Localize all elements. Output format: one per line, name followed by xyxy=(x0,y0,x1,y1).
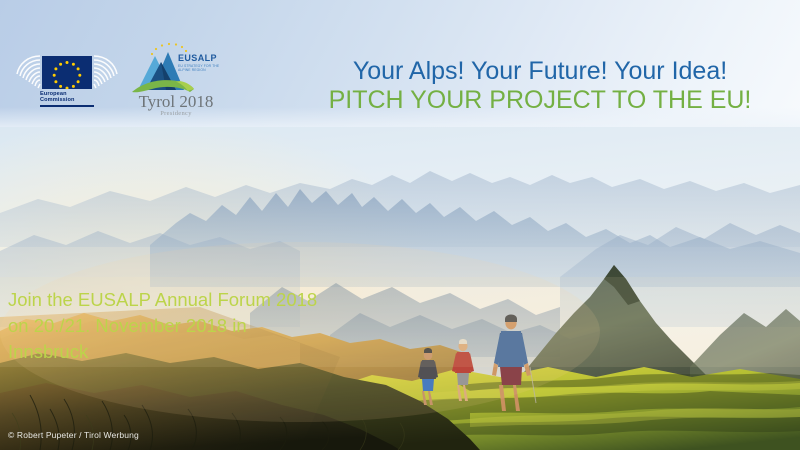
tyrol-presidency-logo: EUSALP EU STRATEGY FOR THE ALPINE REGION… xyxy=(122,42,230,116)
event-line-1: Join the EUSALP Annual Forum 2018 xyxy=(8,287,348,313)
eu-logo-rule xyxy=(40,105,94,107)
european-commission-logo: European Commission xyxy=(14,48,122,112)
event-line-3: Innsbruck xyxy=(8,339,348,365)
headline-block: Your Alps! Your Future! Your Idea! PITCH… xyxy=(300,56,780,115)
event-line-2: on 20./21. November 2018 in xyxy=(8,313,348,339)
eu-logo-label-line1: European xyxy=(40,91,67,97)
poster-canvas: European Commission xyxy=(0,0,800,450)
event-announcement-text: Join the EUSALP Annual Forum 2018 on 20.… xyxy=(8,287,348,365)
eu-stars-icon xyxy=(42,56,92,89)
eu-logo-label: European Commission xyxy=(40,91,98,104)
eu-logo-label-line2: Commission xyxy=(40,97,75,103)
tyrol-presidency-subtitle: Presidency xyxy=(124,110,228,117)
photo-credit: © Robert Pupeter / Tirol Werbung xyxy=(8,430,139,440)
eusalp-subtitle: EU STRATEGY FOR THE ALPINE REGION xyxy=(178,64,228,72)
eusalp-wordmark: EUSALP xyxy=(178,54,217,63)
tyrol-wordmark: Tyrol 2018 xyxy=(124,92,228,111)
headline-line-1: Your Alps! Your Future! Your Idea! xyxy=(300,56,780,86)
eu-flag-icon xyxy=(42,56,92,89)
headline-line-2: PITCH YOUR PROJECT TO THE EU! xyxy=(300,86,780,115)
